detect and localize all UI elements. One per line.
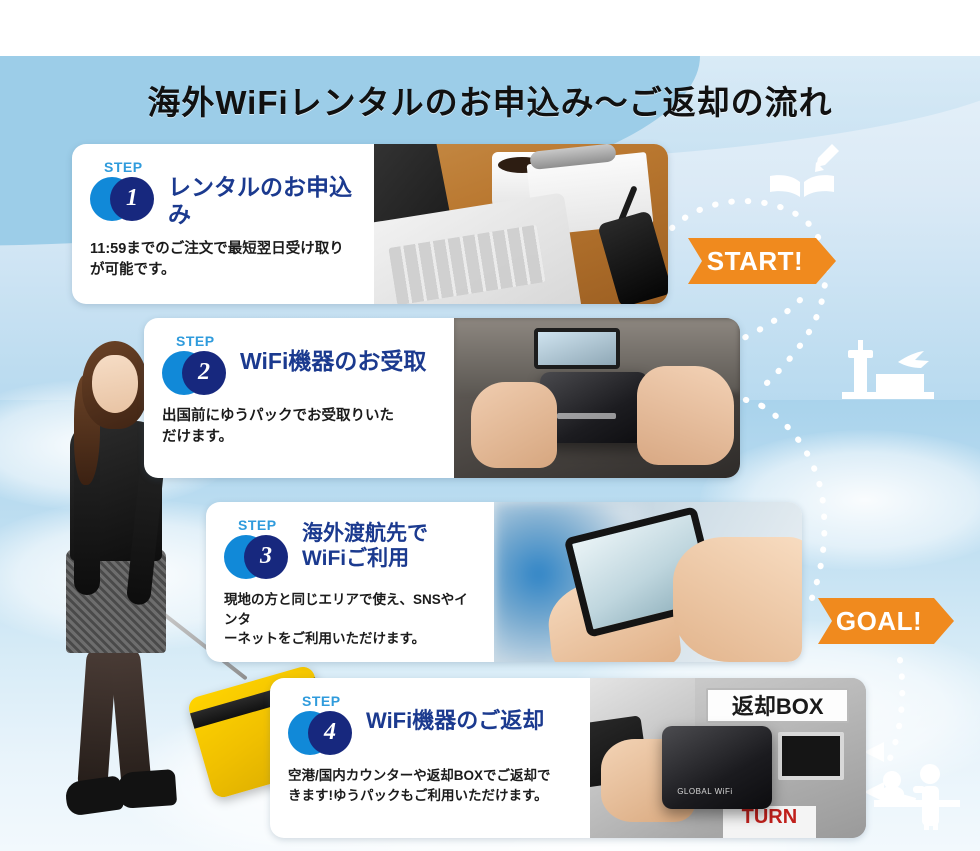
step-1-number: 1 [126,186,138,212]
shoe-left [64,775,124,816]
counter-monitor [534,328,620,370]
airport-tower-airplane-icon [838,336,950,406]
step-4-title: WiFi機器のご返却 [366,694,544,734]
step-card-4[interactable]: STEP 4 WiFi機器のご返却 空港/国内カウンターや返却BOXでご返却で … [270,678,866,838]
infographic-stage: 海外WiFiレンタルのお申込み〜ご返却の流れ [0,0,980,851]
return-box-photo: 返却BOX TURN GLOBAL WiFi [590,678,866,838]
badge-dark-circle: 1 [110,177,154,221]
photo-return-box-scene: 返却BOX TURN GLOBAL WiFi [590,678,866,838]
step-4-number: 4 [324,720,336,746]
step-card-1[interactable]: STEP 1 レンタルのお申込み 11:59までのご注文で最短翌日受け取り が可… [72,144,668,304]
step-3-text-block: STEP 3 海外渡航先で WiFiご利用 現地の方と同じエリアで使え、SNSや… [206,502,494,662]
badge-dark-circle: 4 [308,711,352,755]
face [92,355,138,413]
step-card-3[interactable]: STEP 3 海外渡航先で WiFiご利用 現地の方と同じエリアで使え、SNSや… [206,502,802,662]
step-1-description: 11:59までのご注文で最短翌日受け取り が可能です。 [90,239,360,281]
counter-service-icon [868,760,964,830]
step-2-title: WiFi機器のお受取 [240,334,426,375]
step-2-text-block: STEP 2 WiFi機器のお受取 出国前にゆうパックでお受取りいた だけます。 [144,318,454,478]
goal-flag-label: GOAL! [836,606,922,637]
step-4-step-word: STEP [302,694,366,708]
step-2-description: 出国前にゆうパックでお受取りいた だけます。 [162,406,440,448]
step-4-badge-wrap: STEP 4 [288,694,366,755]
step-2-badge-wrap: STEP 2 [162,334,240,395]
step-2-step-word: STEP [176,334,240,348]
step-4-text-block: STEP 4 WiFi機器のご返却 空港/国内カウンターや返却BOXでご返却で … [270,678,590,838]
hand-right [637,366,734,465]
smartphone-in-hands-photo [494,502,802,662]
shoe-right [117,769,177,809]
step-1-text-block: STEP 1 レンタルのお申込み 11:59までのご注文で最短翌日受け取り が可… [72,144,374,304]
step-1-header: STEP 1 レンタルのお申込み [90,160,360,228]
start-flag: START! [688,238,836,284]
start-flag-label: START! [707,246,803,277]
step-3-step-word: STEP [238,518,302,532]
desk-laptop-coffee-photo [374,144,668,304]
step-1-title: レンタルのお申込み [168,160,360,228]
step-card-2[interactable]: STEP 2 WiFi機器のお受取 出国前にゆうパックでお受取りいた だけます。 [144,318,740,478]
step-3-header: STEP 3 海外渡航先で WiFiご利用 [224,518,480,579]
step-1-badge: 1 [90,177,162,221]
photo-desk-scene [374,144,668,304]
photo-counter-scene [454,318,740,478]
background-top-white-strip [0,0,980,56]
step-2-number: 2 [198,360,210,386]
photo-smartphone-scene [494,502,802,662]
smartphone-on-desk [597,210,668,304]
step-3-description: 現地の方と同じエリアで使え、SNSやインタ ーネットをご利用いただけます。 [224,590,480,649]
hand-left [471,382,557,468]
wifi-pouch-handover-photo [454,318,740,478]
step-2-header: STEP 2 WiFi機器のお受取 [162,334,440,395]
pouch-brand-label: GLOBAL WiFi [677,787,732,796]
step-3-number: 3 [260,544,272,570]
hand-pointing-finger [673,537,802,662]
step-1-step-word: STEP [104,160,168,174]
step-3-badge-wrap: STEP 3 [224,518,302,579]
goal-flag: GOAL! [818,598,954,644]
step-4-description: 空港/国内カウンターや返却BOXでご返却で きます!ゆうパックもご利用いただけま… [288,766,576,805]
step-4-header: STEP 4 WiFi機器のご返却 [288,694,576,755]
step-2-badge: 2 [162,351,234,395]
step-3-badge: 3 [224,535,296,579]
badge-dark-circle: 2 [182,351,226,395]
wifi-pouch-returning: GLOBAL WiFi [662,726,772,809]
step-1-badge-wrap: STEP 1 [90,160,168,221]
page-title: 海外WiFiレンタルのお申込み〜ご返却の流れ [0,76,980,124]
return-box-slot [778,732,844,780]
step-4-badge: 4 [288,711,360,755]
return-box-red-label: TURN [723,806,817,838]
return-box-sign: 返却BOX [706,688,850,723]
step-3-title: 海外渡航先で WiFiご利用 [302,518,428,572]
book-and-pencil-icon [760,136,856,202]
badge-dark-circle: 3 [244,535,288,579]
